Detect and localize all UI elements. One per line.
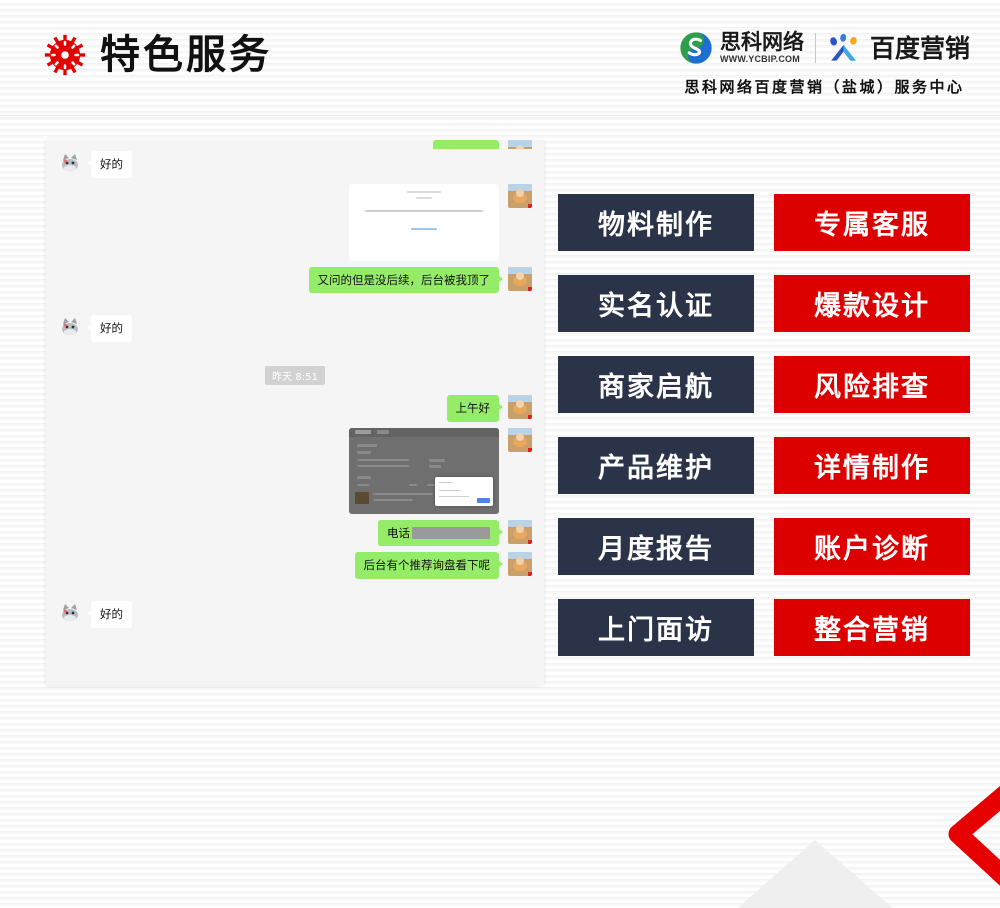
chat-link-card (349, 184, 499, 261)
sike-text-block: 思科网络 WWW.YCBIP.COM (720, 32, 804, 64)
message-row (46, 184, 544, 261)
screenshot-chip (409, 484, 417, 487)
avatar-self (508, 552, 532, 576)
chat-timestamp-row: 昨天 8:51 (46, 366, 544, 385)
service-button-fengxian-paicha[interactable]: 风险排查 (774, 356, 970, 413)
chat-bubble-label: 电话 (387, 526, 410, 540)
avatar-contact (58, 151, 82, 175)
message-row: 后台有个推荐询盘看下呢 (46, 552, 544, 579)
card-line (365, 210, 483, 212)
message-row-clipped (46, 140, 544, 149)
brand-divider (815, 33, 816, 63)
screenshot-modal-dialog (435, 477, 493, 506)
service-button-baokuan-sheji[interactable]: 爆款设计 (774, 275, 970, 332)
chat-timestamp: 昨天 8:51 (265, 366, 325, 385)
sike-url: WWW.YCBIP.COM (720, 55, 804, 64)
service-button-yuedu-baogao[interactable]: 月度报告 (558, 518, 754, 575)
brand-logos-row: 思科网络 WWW.YCBIP.COM 百度营销 (679, 28, 970, 68)
gear-icon (44, 34, 86, 76)
chat-screenshot-panel: 好的 又问的但是没后续，后台被我顶了 (46, 140, 544, 685)
chat-bubble-incoming: 好的 (91, 601, 132, 628)
header-divider (0, 115, 1000, 116)
avatar-self (508, 267, 532, 291)
chat-bubble-incoming: 好的 (91, 315, 132, 342)
avatar-self (508, 395, 532, 419)
screenshot-chip (427, 484, 435, 487)
service-button-shiming-renzheng[interactable]: 实名认证 (558, 275, 754, 332)
brand-lockup: 思科网络 WWW.YCBIP.COM 百度营销 思科网络百度营销（盐城）服务中心 (679, 28, 970, 97)
screenshot-chip (357, 484, 369, 487)
avatar-contact (58, 315, 82, 339)
avatar-self (508, 140, 532, 149)
service-button-shangmen-mianfang[interactable]: 上门面访 (558, 599, 754, 656)
service-button-wuliao-zhizuo[interactable]: 物料制作 (558, 194, 754, 251)
screenshot-dialog-button (477, 498, 490, 503)
baidu-paw-logo-icon (827, 33, 863, 63)
screenshot-chip (429, 465, 441, 468)
baidu-brand: 百度营销 (827, 33, 970, 63)
screenshot-thumbnail (355, 492, 369, 504)
service-button-zhanghu-zhenduan[interactable]: 账户诊断 (774, 518, 970, 575)
screenshot-chip (373, 493, 433, 496)
message-row: 上午好 (46, 395, 544, 422)
screenshot-chip (357, 476, 371, 479)
card-link-line (411, 228, 437, 230)
message-row: 好的 (46, 315, 544, 342)
service-button-zhuanshu-kefu[interactable]: 专属客服 (774, 194, 970, 251)
chat-message-list: 好的 又问的但是没后续，后台被我顶了 (46, 140, 544, 685)
message-row: 好的 (46, 151, 544, 178)
screenshot-chip (357, 444, 377, 447)
service-button-xiangqing-zhizuo[interactable]: 详情制作 (774, 437, 970, 494)
avatar-self (508, 520, 532, 544)
screenshot-chip (355, 430, 371, 434)
screenshot-chip (429, 459, 445, 462)
sike-name: 思科网络 (720, 32, 804, 53)
card-line (407, 191, 441, 193)
baidu-name: 百度营销 (870, 36, 970, 61)
avatar-self (508, 184, 532, 208)
corner-triangle-decoration (710, 840, 920, 908)
service-button-shangjia-qihang[interactable]: 商家启航 (558, 356, 754, 413)
chat-image-screenshot[interactable] (349, 428, 499, 514)
screenshot-chip (373, 499, 413, 502)
service-button-chanpin-weihu[interactable]: 产品维护 (558, 437, 754, 494)
message-row (46, 428, 544, 514)
screenshot-chip (377, 430, 389, 434)
page-title: 特色服务 (100, 35, 272, 75)
avatar-self (508, 428, 532, 452)
sike-logo-icon (679, 31, 713, 65)
message-row: 好的 (46, 601, 544, 628)
corner-chevron-decoration (924, 762, 1000, 908)
page-header: 特色服务 思科网络 WWW.YCBIP.COM (0, 0, 1000, 116)
brand-subtitle: 思科网络百度营销（盐城）服务中心 (684, 76, 964, 97)
service-button-zhenghe-yingxiao[interactable]: 整合营销 (774, 599, 970, 656)
avatar-contact (58, 601, 82, 625)
chat-bubble-outgoing: 后台有个推荐询盘看下呢 (355, 552, 500, 579)
message-row: 又问的但是没后续，后台被我顶了 (46, 267, 544, 294)
screenshot-chip (357, 451, 371, 454)
chat-bubble-outgoing: 上午好 (447, 395, 500, 422)
message-row: 电话 (46, 520, 544, 547)
service-buttons-grid: 物料制作 专属客服 实名认证 爆款设计 商家启航 风险排查 产品维护 详情制作 … (558, 194, 970, 656)
chat-bubble-clipped (433, 140, 499, 149)
redacted-phone-number (412, 527, 490, 539)
chat-bubble-incoming: 好的 (91, 151, 132, 178)
chat-bubble-outgoing-redacted: 电话 (378, 520, 499, 547)
screenshot-toolbar (349, 428, 499, 437)
title-block: 特色服务 (44, 34, 272, 76)
screenshot-chip (357, 459, 409, 462)
chat-bubble-outgoing: 又问的但是没后续，后台被我顶了 (309, 267, 500, 294)
card-line (416, 197, 432, 199)
sike-brand: 思科网络 WWW.YCBIP.COM (679, 31, 804, 65)
screenshot-chip (357, 465, 409, 468)
